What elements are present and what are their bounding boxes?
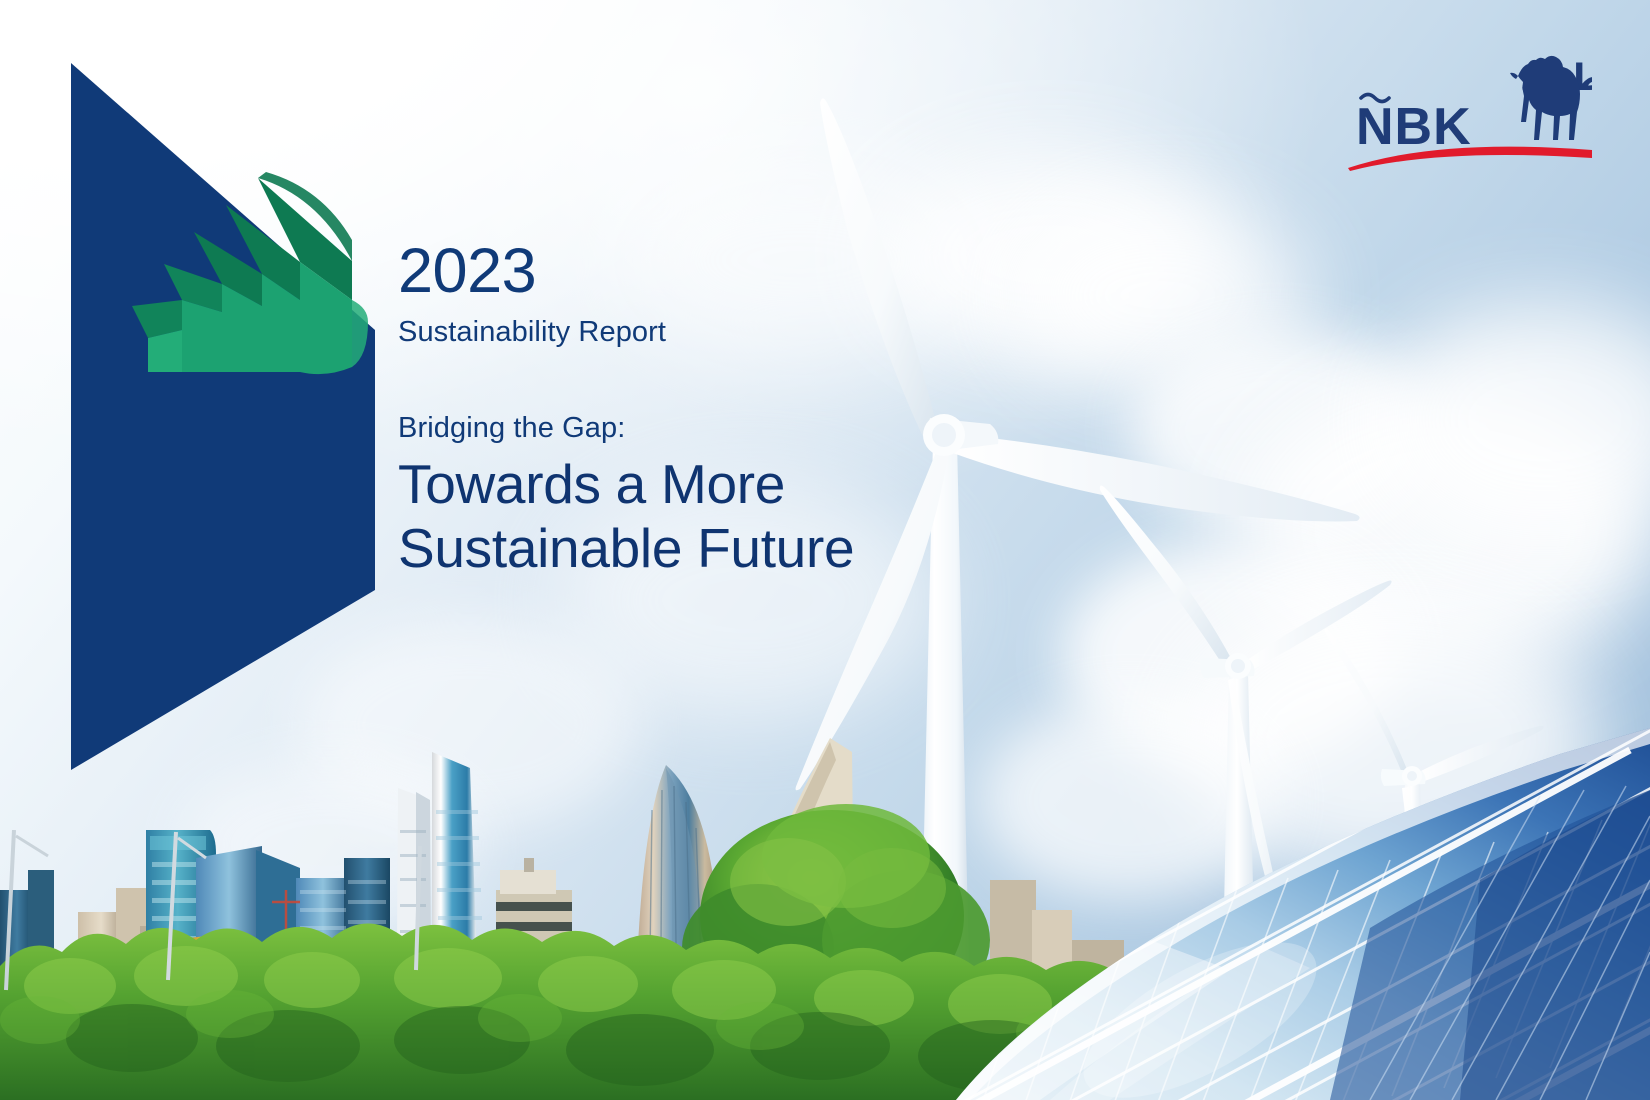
report-name: Sustainability Report xyxy=(398,314,854,350)
solar-panel-array xyxy=(900,720,1650,1100)
light-poles xyxy=(0,830,460,1030)
cover-headline: Towards a More Sustainable Future xyxy=(398,453,854,581)
report-cover: 2023 Sustainability Report Bridging the … xyxy=(0,0,1650,1100)
brand-diamond-panel xyxy=(0,0,420,820)
nbk-latin-wordmark: NBK xyxy=(1356,98,1472,156)
cover-text-block: 2023 Sustainability Report Bridging the … xyxy=(398,240,854,581)
headline-line-1: Towards a More xyxy=(398,453,854,517)
cover-kicker: Bridging the Gap: xyxy=(398,412,854,445)
headline-line-2: Sustainable Future xyxy=(398,517,854,581)
report-year: 2023 xyxy=(398,240,854,303)
nbk-logo: الوطني NBK xyxy=(1342,46,1592,171)
